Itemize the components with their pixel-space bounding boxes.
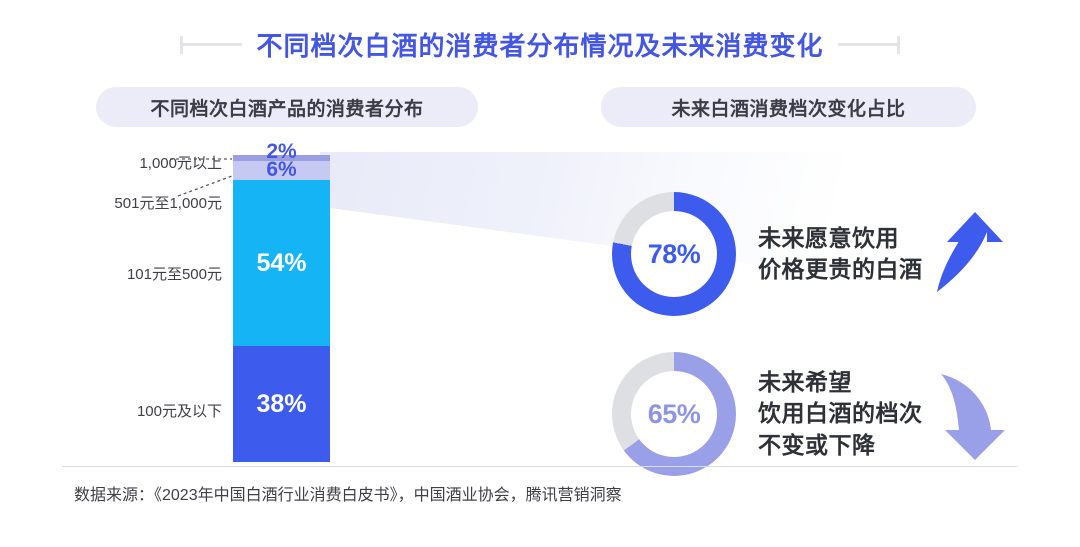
page-title: 不同档次白酒的消费者分布情况及未来消费变化 [256,26,823,63]
donut-row-willing-to-pay-more: 78% 未来愿意饮用 价格更贵的白酒 [612,192,1011,316]
title-rule-right [838,34,900,56]
bar-label-501-to-1000: 501元至1,000元 [114,192,222,213]
source-note: 数据来源：《2023年中国白酒行业消费白皮书》，中国酒业协会，腾讯营销洞察 [74,481,622,505]
arrow-down-icon [933,364,1013,464]
bar-segment-value-101-to-500: 54% [256,249,306,278]
donut-caption-65-line2: 饮用白酒的档次 [758,398,923,429]
donut-hole-65: 65% [631,371,717,457]
bar-label-101-to-500: 101元至500元 [127,263,222,284]
donut-caption-65: 未来希望 饮用白酒的档次 不变或下降 [758,367,923,460]
donut-chart-78-percent: 78% [612,192,736,316]
donut-value-78: 78% [648,239,701,270]
bar-segment-101-to-500: 54% [233,180,330,346]
arrow-up-icon [933,208,1011,300]
donut-hole-78: 78% [631,211,717,297]
bar-segment-value-100-and-below: 38% [256,390,306,419]
donut-caption-65-line1: 未来希望 [758,367,923,398]
bar-segment-501-to-1000: 6% [233,161,330,180]
title-rule-right-line [838,43,897,46]
donut-caption-65-line3: 不变或下降 [758,430,923,461]
section-pill-left: 不同档次白酒产品的消费者分布 [96,87,478,127]
section-pill-right: 未来白酒消费档次变化占比 [601,87,976,127]
donut-row-same-or-lower: 65% 未来希望 饮用白酒的档次 不变或下降 [612,352,1013,476]
donut-caption-78-line2: 价格更贵的白酒 [758,254,923,285]
bar-segment-100-and-below: 38% [233,346,330,462]
page-header: 不同档次白酒的消费者分布情况及未来消费变化 [0,26,1080,63]
footer-divider [62,466,1017,467]
title-rule-left [180,34,242,56]
donut-chart-65-percent: 65% [612,352,736,476]
title-rule-left-line [183,43,242,46]
bar-label-100-and-below: 100元及以下 [137,400,222,421]
donut-value-65: 65% [648,399,701,430]
stacked-bar-chart: 2% 6% 54% 38% [233,155,330,462]
title-rule-right-tick [897,36,900,54]
bar-label-above-1000: 1,000元以上 [139,152,222,173]
donut-caption-78: 未来愿意饮用 价格更贵的白酒 [758,223,923,285]
bar-segment-value-501-to-1000: 6% [266,158,296,182]
donut-caption-78-line1: 未来愿意饮用 [758,223,923,254]
